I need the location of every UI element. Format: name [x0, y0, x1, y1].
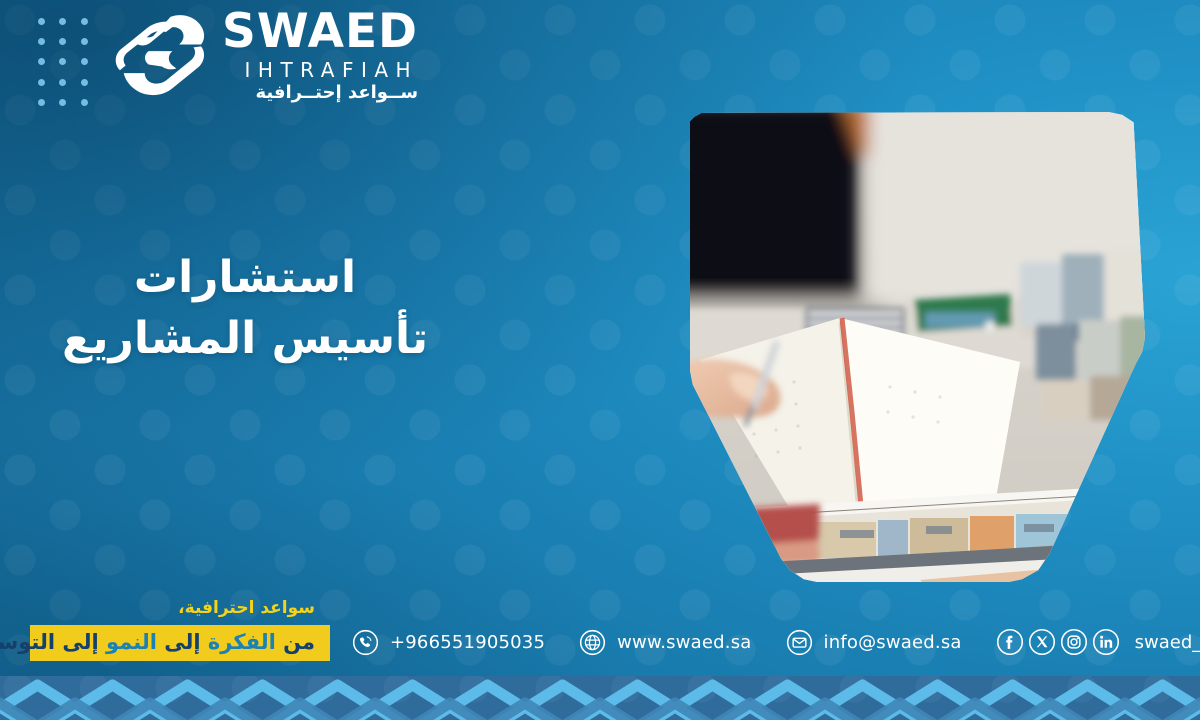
tagline-highlight-2: النمو	[106, 630, 157, 654]
dot-grid-dot	[59, 58, 66, 65]
contact-website-label: www.swaed.sa	[617, 632, 751, 653]
facebook-icon[interactable]	[996, 628, 1024, 656]
dot-grid-dot	[38, 38, 45, 45]
headline-line-1: استشارات	[50, 248, 440, 309]
linkedin-icon[interactable]	[1092, 628, 1120, 656]
dot-grid-dot	[81, 99, 88, 106]
tagline-prefix: من	[283, 630, 315, 654]
social-links: swaed_sa	[996, 628, 1200, 656]
contact-email[interactable]: info@swaed.sa	[786, 629, 962, 656]
contact-phone[interactable]: +966551905035	[352, 629, 545, 656]
tagline-mid: إلى	[164, 630, 200, 654]
dot-grid-dot	[81, 38, 88, 45]
contact-bar: +966551905035 www.swaed.sa info@swaed.sa	[352, 622, 1200, 662]
tagline-suffix: إلى التوسع	[0, 630, 99, 654]
dot-grid-dot	[59, 18, 66, 25]
dot-grid-decoration	[31, 11, 95, 113]
brand-name-ar: ســواعد إحتــرافية	[255, 84, 418, 102]
headline: استشارات تأسيس المشاريع	[50, 248, 440, 369]
tagline-band: من الفكرة إلى النمو إلى التوسع	[30, 625, 330, 661]
swaed-interlocking-arms-logo-icon	[112, 13, 208, 97]
tagline-top-text: سواعد احترافية،	[0, 596, 330, 622]
bottom-chevron-strip	[0, 676, 1200, 720]
x-twitter-icon[interactable]	[1028, 628, 1056, 656]
dot-grid-dot	[81, 79, 88, 86]
dot-grid-dot	[38, 99, 45, 106]
dot-grid-dot	[81, 58, 88, 65]
instagram-icon[interactable]	[1060, 628, 1088, 656]
email-icon	[786, 629, 813, 656]
contact-email-label: info@swaed.sa	[824, 632, 962, 653]
dot-grid-dot	[59, 79, 66, 86]
tagline-highlight-1: الفكرة	[208, 630, 276, 654]
dot-grid-dot	[38, 18, 45, 25]
dot-grid-dot	[81, 18, 88, 25]
phone-icon	[352, 629, 379, 656]
headline-line-2: تأسيس المشاريع	[50, 309, 440, 370]
dot-grid-dot	[38, 58, 45, 65]
brand-subtitle-en: IHTRAFIAH	[237, 60, 419, 80]
globe-icon	[579, 629, 606, 656]
brand-logo-lockup: SWAED IHTRAFIAH ســواعد إحتــرافية	[112, 8, 418, 102]
marketing-banner: SWAED IHTRAFIAH ســواعد إحتــرافية استشا…	[0, 0, 1200, 720]
contact-website[interactable]: www.swaed.sa	[579, 629, 751, 656]
social-handle: swaed_sa	[1135, 632, 1200, 653]
brand-name-en: SWAED	[222, 8, 418, 55]
chevron-pattern	[0, 676, 1200, 720]
contact-phone-label: +966551905035	[390, 632, 545, 653]
dot-grid-dot	[59, 99, 66, 106]
dot-grid-dot	[59, 38, 66, 45]
dot-grid-dot	[38, 79, 45, 86]
tagline-block: سواعد احترافية، من الفكرة إلى النمو إلى …	[0, 596, 330, 661]
